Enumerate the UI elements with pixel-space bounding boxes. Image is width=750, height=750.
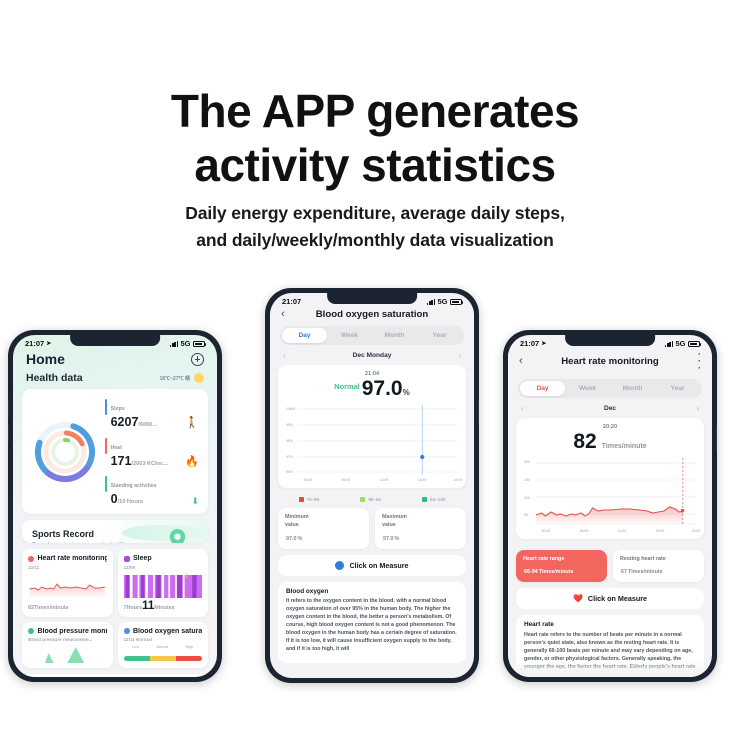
heart-rate-range-unit: Times/minute (539, 569, 574, 575)
tile-blood-pressure-title: Blood pressure monitoring (38, 628, 107, 635)
maximum-unit: % (395, 536, 400, 542)
heart-rate-summary-card: 20:20 82Times/minute 200 150 100 50 (516, 418, 704, 539)
measure-button[interactable]: ❤️ Click on Measure (516, 588, 704, 609)
nav-bar: ‹ Blood oxygen saturation (270, 307, 474, 326)
measure-button[interactable]: Click on Measure (278, 555, 466, 576)
bottom-tab-bar: 🏠 Home 👟 Sports ⌚ Devices 👤 Mine (13, 673, 217, 677)
y-tick-100: 100% (286, 407, 295, 411)
tile-sleep-hours-unit: Hours (127, 605, 143, 611)
legend-swatch-red (299, 497, 304, 502)
heart-rate-stat-cards: Heart rate range 66-94Times/minute Resti… (516, 550, 704, 583)
tile-blood-oxygen-title: Blood oxygen saturation (133, 628, 202, 635)
phone-left: 21:07 ➤ 5G Home Health data (8, 330, 222, 682)
status-badge: Normal (334, 382, 359, 391)
activity-rings (31, 418, 99, 486)
home-screen: 21:07 ➤ 5G Home Health data (13, 335, 217, 677)
period-segmented-control: Day Week Month Year (518, 379, 702, 398)
metric-steps-bar (105, 399, 107, 415)
headline-line-1: The APP generates (171, 85, 579, 137)
chevron-left-icon[interactable]: ‹ (281, 309, 293, 320)
metrics-list: Steps 6207/6000... 🚶 Heat (99, 397, 199, 506)
walking-icon: 🚶 (185, 418, 199, 429)
maximum-value-card: Maximumvalue 97.0% (375, 508, 466, 549)
legend-item-mid: 90–94 (360, 497, 381, 502)
heart-rate-range-card: Heart rate range 66-94Times/minute (516, 550, 607, 583)
phone-middle: 21:07 5G ‹ Blood oxygen saturation Day W… (265, 288, 479, 683)
legend-label-low: 70–90 (307, 497, 320, 502)
heart-rate-unit: Times/minute (602, 443, 647, 450)
page-title: Blood oxygen saturation (293, 309, 451, 320)
home-header: Home (13, 349, 217, 371)
blood-oxygen-article: Blood oxygen It refers to the oxygen con… (278, 582, 466, 663)
volume-down-button[interactable] (8, 424, 9, 442)
minimum-unit: % (298, 536, 303, 542)
blood-oxygen-page: 21:07 5G ‹ Blood oxygen saturation Day W… (270, 293, 474, 678)
metric-steps-label: Steps (111, 406, 125, 412)
current-date: Dec Monday (353, 352, 392, 359)
subheadline-line-1: Daily energy expenditure, average daily … (0, 200, 750, 227)
tile-sleep-minutes: 11 (142, 600, 154, 612)
metric-heat-goal: /2003 KCloc... (131, 461, 167, 467)
metric-heat-value: 171 (111, 454, 132, 468)
blood-oxygen-scale-bar (124, 656, 203, 661)
tab-week[interactable]: Week (327, 328, 372, 343)
metric-steps-goal: /6000... (138, 422, 157, 428)
minimum-label-2: value (285, 522, 299, 528)
metric-steps: Steps 6207/6000... 🚶 (105, 397, 199, 429)
x-tick-4: 24:00 (454, 478, 463, 482)
page-title: Home (26, 351, 65, 367)
y-tick-200: 200 (524, 460, 530, 464)
x-tick-0: 00:00 (304, 478, 313, 482)
resting-heart-rate-value: 67 (621, 569, 627, 575)
phone-middle-screen: 21:07 5G ‹ Blood oxygen saturation Day W… (270, 293, 474, 678)
health-tiles-grid: Heart rate monitoring 12/11 (22, 549, 208, 668)
maximum-value: 97.0 (383, 536, 394, 542)
volume-up-button[interactable] (8, 400, 9, 418)
tile-sleep-date: 12/09 (124, 565, 203, 570)
status-time: 21:07 (520, 339, 539, 348)
signal-icon (170, 341, 178, 347)
tile-sleep-minutes-unit: Minutes (154, 605, 174, 611)
maximum-label-2: value (382, 522, 396, 528)
y-tick-99: 99% (286, 423, 293, 427)
metric-heat: Heat 171/2003 KCloc... 🔥 (105, 436, 199, 468)
x-tick-2: 12:00 (618, 529, 627, 533)
scale-label-high: High (186, 645, 194, 649)
signal-icon (665, 341, 673, 347)
status-time: 21:07 (25, 339, 44, 348)
battery-icon (193, 341, 205, 347)
legend-item-high: 94–100 (422, 497, 445, 502)
tab-day[interactable]: Day (520, 381, 565, 396)
article-title: Blood oxygen (286, 588, 458, 595)
chevron-left-icon[interactable]: ‹ (519, 356, 531, 367)
date-selector: ‹ Dec › (508, 404, 712, 414)
tile-heart-rate-unit: Times/minute (34, 605, 69, 611)
tile-blood-pressure-sub: Blood pressure measureme... (28, 637, 107, 642)
battery-icon (450, 299, 462, 305)
page-title: Heart rate monitoring (531, 356, 689, 367)
signal-icon (427, 299, 435, 305)
article-title: Heart rate (524, 621, 696, 628)
scroll-fade (508, 661, 712, 677)
subheadline-line-2: and daily/weekly/monthly data visualizat… (0, 227, 750, 254)
measure-button-label: Click on Measure (588, 594, 647, 603)
scale-segment-green (124, 656, 150, 661)
tab-year[interactable]: Year (655, 381, 700, 396)
resting-heart-rate-card: Resting heart rate 67Times/minute (613, 550, 704, 583)
x-tick-1: 06:00 (342, 478, 351, 482)
metric-standing-value: 0 (111, 492, 118, 506)
activity-rings-card[interactable]: Steps 6207/6000... 🚶 Heat (22, 389, 208, 514)
notch (327, 293, 417, 304)
headline-line-2: activity statistics (194, 139, 555, 191)
spo2-unit: % (403, 388, 410, 397)
minimum-value-card: Minimumvalue 97.0% (278, 508, 369, 549)
tile-sleep-chart (124, 573, 203, 598)
minimum-value: 97.0 (286, 536, 297, 542)
maximum-label-1: Maximum (382, 514, 407, 520)
tile-blood-pressure[interactable]: Blood pressure monitoring Blood pressure… (22, 622, 113, 669)
blood-pressure-icon (28, 628, 34, 634)
y-tick-97: 97% (286, 455, 293, 459)
y-tick-150: 150 (524, 478, 530, 482)
plus-circle-icon[interactable] (191, 353, 204, 366)
x-tick-1: 06:00 (580, 529, 589, 533)
date-selector: ‹ Dec Monday › (270, 351, 474, 361)
next-date-icon[interactable]: › (696, 404, 699, 413)
weather-text: 16℃~27℃ 晴 (160, 375, 190, 382)
measurement-time: 20:20 (524, 424, 696, 430)
tile-blood-oxygen[interactable]: Blood oxygen saturation 12/11 Normal Low… (118, 622, 209, 669)
blood-oxygen-scale-labels: Low Normal High (124, 645, 203, 649)
period-segmented-control: Day Week Month Year (280, 326, 464, 345)
min-max-cards: Minimumvalue 97.0% Maximumvalue 97.0% (278, 508, 466, 549)
scale-segment-yellow (150, 656, 176, 661)
prev-date-icon[interactable]: ‹ (521, 404, 524, 413)
location-arrow-icon: ➤ (46, 340, 51, 347)
metric-standing-label: Standing activities (111, 483, 157, 489)
prev-date-icon[interactable]: ‹ (283, 351, 286, 360)
spo2-legend: 70–90 90–94 94–100 (270, 493, 474, 502)
location-arrow-icon: ➤ (541, 340, 546, 347)
metric-heat-bar (105, 438, 107, 454)
spo2-value: 97.0 (362, 377, 403, 400)
scale-label-low: Low (132, 645, 139, 649)
tile-sleep[interactable]: Sleep 12/09 (118, 549, 209, 617)
blood-oxygen-icon (124, 628, 130, 634)
kebab-menu-icon[interactable]: ··· (689, 351, 701, 373)
tile-heart-rate-date: 12/11 (28, 565, 107, 570)
standing-arrow-icon: ⬇ (191, 497, 199, 506)
legend-label-mid: 90–94 (368, 497, 381, 502)
notch (70, 335, 160, 346)
heart-rate-page: 21:07 ➤ 5G ‹ Heart rate monitoring ··· (508, 335, 712, 677)
resting-heart-rate-label: Resting heart rate (620, 556, 697, 564)
next-date-icon[interactable]: › (458, 351, 461, 360)
scale-segment-red (176, 656, 202, 661)
phone-right-screen: 21:07 ➤ 5G ‹ Heart rate monitoring ··· (508, 335, 712, 677)
y-tick-100: 100 (524, 496, 530, 500)
legend-swatch-lightgreen (360, 497, 365, 502)
tab-day[interactable]: Day (282, 328, 327, 343)
y-tick-98: 98% (286, 439, 293, 443)
minimum-label-1: Minimum (285, 514, 309, 520)
health-data-header: Health data 16℃~27℃ 晴 (13, 371, 217, 389)
resting-heart-rate-unit: Times/minute (628, 569, 663, 575)
tile-heart-rate-title: Heart rate monitoring (38, 555, 107, 562)
metric-standing: Standing activities 0/10 Hours ⬇ (105, 474, 199, 506)
y-tick-50: 50 (524, 513, 528, 517)
measure-button-label: Click on Measure (349, 561, 408, 570)
scroll-fade (270, 662, 474, 678)
heart-rate-chart: 200 150 100 50 (524, 458, 696, 532)
moon-icon (124, 556, 130, 562)
heart-icon (28, 556, 34, 562)
x-tick-2: 12:00 (380, 478, 389, 482)
tab-year[interactable]: Year (417, 328, 462, 343)
tab-month[interactable]: Month (610, 381, 655, 396)
spo2-chart: 100% 99% 98% 97% 96% (286, 405, 458, 481)
sun-icon (194, 373, 204, 383)
nav-bar: ‹ Heart rate monitoring ··· (508, 349, 712, 379)
article-body: It refers to the oxygen content in the b… (286, 597, 458, 653)
legend-swatch-green (422, 497, 427, 502)
x-tick-3: 18:00 (418, 478, 427, 482)
tile-heart-rate-chart (28, 573, 107, 598)
subheadline: Daily energy expenditure, average daily … (0, 200, 750, 254)
heart-rate-range-value: 66-94 (524, 569, 538, 575)
status-time: 21:07 (282, 297, 301, 306)
x-tick-3: 18:00 (656, 529, 665, 533)
network-label: 5G (180, 339, 190, 348)
metric-heat-label: Heat (111, 445, 122, 451)
power-button[interactable] (478, 398, 479, 426)
heart-icon: ❤️ (573, 595, 583, 603)
phone-right: 21:07 ➤ 5G ‹ Heart rate monitoring ··· (503, 330, 717, 682)
metric-steps-value: 6207 (111, 415, 139, 429)
health-data-title: Health data (26, 372, 83, 384)
weather-indicator: 16℃~27℃ 晴 (160, 373, 204, 383)
rings-svg (31, 418, 99, 486)
heart-rate-range-label: Heart rate range (523, 556, 600, 564)
heart-rate-value: 82 (573, 430, 596, 453)
network-label: 5G (675, 339, 685, 348)
network-label: 5G (437, 297, 447, 306)
tile-blood-oxygen-sub: 12/11 Normal (124, 637, 203, 642)
current-date: Dec (604, 405, 616, 412)
metric-standing-goal: /10 Hours (118, 499, 144, 505)
legend-label-high: 94–100 (430, 497, 445, 502)
tab-week[interactable]: Week (565, 381, 610, 396)
scale-label-normal: Normal (157, 645, 169, 649)
sports-record-card[interactable]: Sports Record Record exercise to improve… (22, 520, 208, 543)
x-tick-0: 00:00 (542, 529, 551, 533)
tile-sleep-title: Sleep (133, 555, 152, 562)
blood-drop-icon (335, 561, 344, 570)
x-tick-4: 24:00 (692, 529, 701, 533)
battery-icon (688, 341, 700, 347)
y-tick-96: 96% (286, 470, 293, 474)
notch (565, 335, 655, 346)
spo2-summary-card: 21:04 Normal97.0% 100% 99% 98% 97% 96% (278, 365, 466, 488)
tile-blood-pressure-chart (28, 645, 107, 663)
flame-icon: 🔥 (185, 457, 199, 468)
tile-heart-rate[interactable]: Heart rate monitoring 12/11 (22, 549, 113, 617)
headline: The APP generates activity statistics (0, 84, 750, 193)
legend-item-low: 70–90 (299, 497, 320, 502)
promo-page: The APP generates activity statistics Da… (0, 0, 750, 750)
metric-standing-bar (105, 476, 107, 492)
tab-month[interactable]: Month (372, 328, 417, 343)
power-button[interactable] (716, 426, 717, 452)
phone-left-screen: 21:07 ➤ 5G Home Health data (13, 335, 217, 677)
